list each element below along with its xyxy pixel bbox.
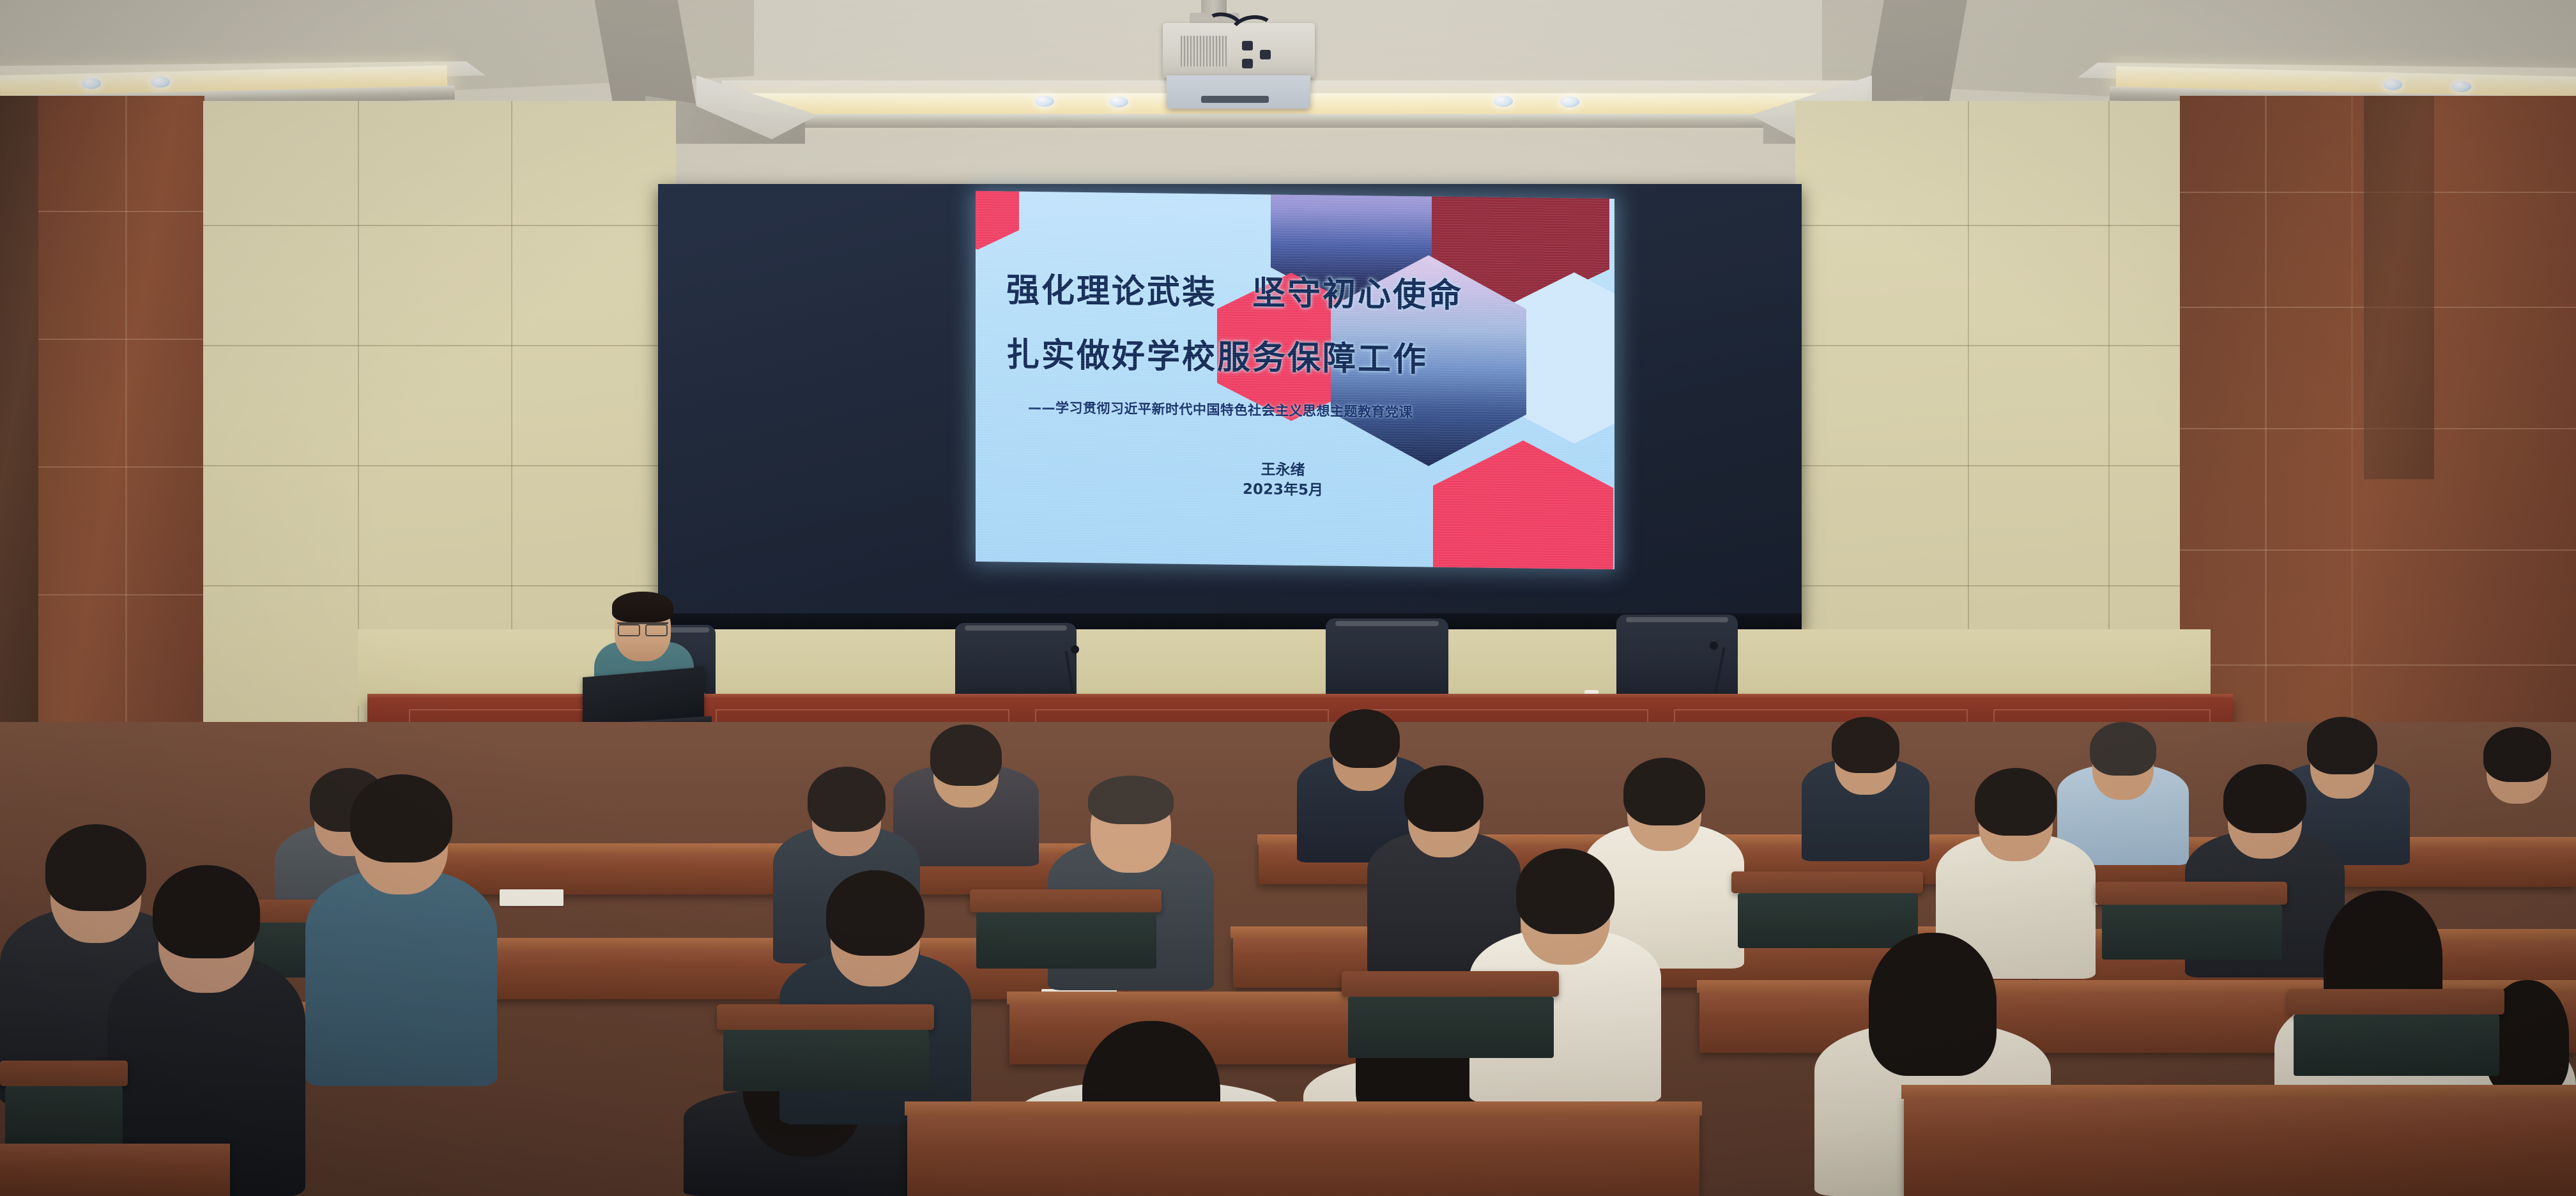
microphone-head-icon — [1071, 645, 1079, 654]
wall-seam — [203, 585, 677, 586]
person-hair — [1404, 765, 1483, 832]
wood-seam — [38, 466, 206, 468]
audience-member-foreground — [305, 754, 497, 1086]
wood-seam — [38, 594, 206, 595]
projector-vent-icon — [1181, 36, 1227, 66]
downlight-icon — [1494, 96, 1513, 107]
projector-lens-icon — [1201, 96, 1269, 103]
audience-chair-back — [0, 1061, 128, 1086]
person-hair — [1832, 717, 1899, 773]
person-hair — [1975, 768, 2057, 836]
wood-seam — [38, 211, 206, 212]
person-hair — [2090, 722, 2156, 776]
downlight-icon — [2383, 79, 2402, 90]
speaker-hair — [612, 592, 673, 622]
projector-port — [1260, 50, 1271, 59]
audience-desk-row-front — [907, 1112, 1699, 1196]
person-body — [305, 869, 497, 1086]
wall-seam — [203, 225, 677, 226]
person-hair — [1516, 848, 1614, 934]
audience-chair-back — [1342, 971, 1559, 997]
downlight-icon — [1035, 96, 1054, 107]
audience-chair-seat — [723, 1030, 929, 1091]
wood-seam — [2265, 96, 2267, 754]
audience-desk-row-front — [1904, 1095, 2576, 1196]
wall-seam — [1795, 585, 2186, 586]
wood-seam — [38, 339, 206, 340]
wood-seam — [2180, 549, 2576, 551]
downlight-icon — [151, 77, 170, 88]
cove-frame-center — [735, 114, 1859, 128]
audience-chair-seat — [2294, 1015, 2499, 1076]
audience-member — [1802, 701, 1929, 861]
audience-chair-back — [2287, 989, 2504, 1015]
audience-chair-back — [970, 889, 1161, 912]
wood-seam — [2351, 96, 2353, 754]
wall-seam — [1795, 345, 2186, 346]
audience-chair-seat — [5, 1086, 123, 1150]
wall-seam — [1795, 225, 2186, 226]
person-hair — [930, 724, 1002, 786]
audience-member-foreground — [1469, 834, 1661, 1103]
person-hair — [350, 774, 452, 862]
hexagon-accent-topleft — [976, 191, 1019, 250]
person-hair — [153, 865, 260, 958]
downlight-icon — [1560, 96, 1579, 107]
slide-author-block: 王永绪 2023年5月 — [1243, 460, 1323, 501]
slide-title-line-2: 扎实做好学校服务保障工作 — [1006, 327, 1453, 381]
person-hair — [1623, 758, 1705, 825]
slide-title-line-1: 强化理论武装 坚守初心使命 — [1006, 263, 1453, 316]
slide-author-name: 王永绪 — [1243, 460, 1323, 481]
person-hair — [2223, 764, 2306, 833]
wood-seam — [125, 96, 127, 741]
person-hair — [2483, 727, 2551, 782]
audience-desk-surface — [1901, 1085, 2576, 1099]
document-paper — [500, 889, 563, 906]
glasses-icon — [617, 622, 668, 632]
audience-chair-back — [1731, 871, 1923, 893]
projector-port — [1242, 59, 1253, 68]
microphone-head-icon — [1710, 641, 1718, 650]
projector-lens-housing — [1167, 75, 1310, 109]
chair-highlight — [965, 625, 1067, 631]
downlight-icon — [82, 78, 101, 89]
audience-desk-row-front — [0, 1144, 230, 1196]
slide-date: 2023年5月 — [1243, 480, 1323, 501]
wall-seam — [1795, 465, 2186, 466]
wall-column-right — [2364, 96, 2434, 479]
audience-chair-seat — [976, 912, 1156, 969]
chair-highlight — [1626, 617, 1728, 622]
wood-seam — [2180, 664, 2576, 666]
audience-member-foreground — [107, 841, 305, 1196]
audience-chair-seat — [1348, 997, 1554, 1058]
hexagon-accent-bottomright — [1433, 440, 1613, 569]
chair-highlight — [1335, 621, 1438, 626]
person-hair — [1088, 776, 1174, 824]
person-hair — [826, 870, 924, 956]
audience-chair-seat — [2102, 905, 2282, 960]
wall-wood-left — [38, 96, 204, 741]
wall-seam — [203, 345, 677, 346]
downlight-icon — [1109, 96, 1128, 107]
audience-desk-surface — [905, 1101, 1702, 1115]
wall-seam — [203, 465, 677, 466]
downlight-icon — [2452, 81, 2471, 92]
audience-chair-back — [717, 1004, 934, 1030]
audience-chair-back — [2096, 882, 2287, 905]
audience-member — [2453, 714, 2576, 868]
conference-hall-photo: 强化理论武装 坚守初心使命 扎实做好学校服务保障工作 ——学习贯彻习近平新时代中… — [0, 0, 2576, 1196]
person-hair — [808, 767, 885, 832]
person-hair — [1869, 933, 1997, 1076]
presentation-slide: 强化理论武装 坚守初心使命 扎实做好学校服务保障工作 ——学习贯彻习近平新时代中… — [976, 191, 1614, 569]
